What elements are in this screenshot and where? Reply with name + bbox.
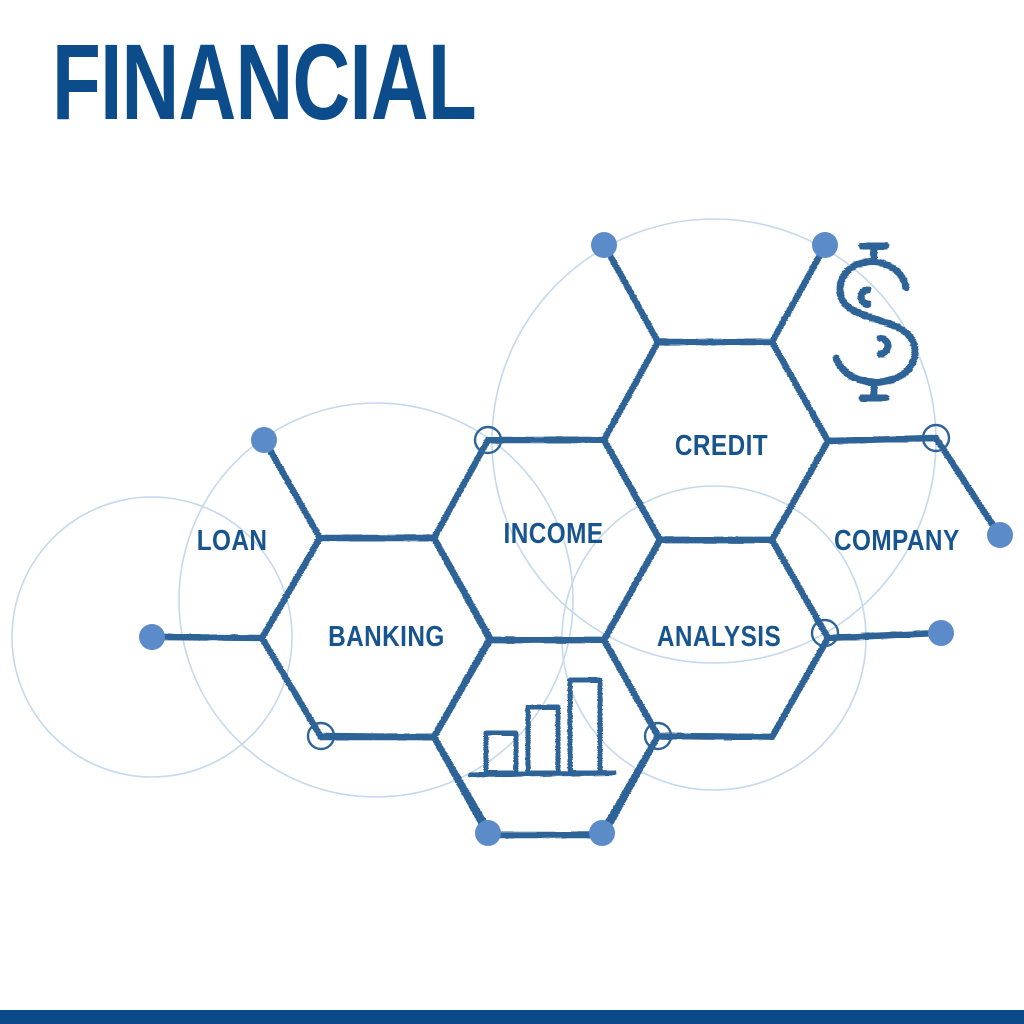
bar-chart-icon — [470, 680, 614, 775]
stem-right-mid — [828, 633, 938, 638]
stem-top-left — [606, 248, 658, 342]
bar-chart-baseline — [470, 773, 614, 775]
stem-company-top — [828, 438, 933, 441]
stem-banking-low — [324, 736, 434, 737]
page-title: FINANCIAL — [52, 28, 476, 136]
ghost-circles-group — [12, 219, 936, 797]
stem-analysis-low — [661, 736, 772, 737]
stem-company-out — [936, 438, 998, 533]
node-filled[interactable] — [812, 232, 838, 258]
node-filled[interactable] — [591, 232, 617, 258]
footer-bar — [0, 1010, 1024, 1024]
stem-left — [155, 637, 262, 638]
node-filled[interactable] — [475, 820, 501, 846]
diagram-canvas — [0, 0, 1024, 1024]
bar-chart-bar — [570, 680, 600, 773]
hex-label-banking: BANKING — [328, 623, 445, 652]
node-filled[interactable] — [589, 820, 615, 846]
hex-label-analysis: ANALYSIS — [657, 623, 781, 652]
bar-chart-bar — [528, 707, 558, 773]
node-filled[interactable] — [251, 427, 277, 453]
hex-label-company: COMPANY — [834, 527, 960, 556]
hex-label-loan: LOAN — [197, 527, 268, 556]
node-filled[interactable] — [928, 620, 954, 646]
node-filled[interactable] — [139, 624, 165, 650]
stem-top-right — [772, 248, 824, 342]
stem-loan — [266, 443, 320, 538]
node-filled[interactable] — [987, 522, 1013, 548]
stem-bottom-left-2 — [434, 737, 489, 831]
dollar-sign-icon — [836, 246, 915, 398]
hexagon-bar-chart[interactable] — [434, 640, 658, 835]
hex-label-credit: CREDIT — [675, 432, 768, 461]
hex-label-income: INCOME — [504, 520, 604, 549]
